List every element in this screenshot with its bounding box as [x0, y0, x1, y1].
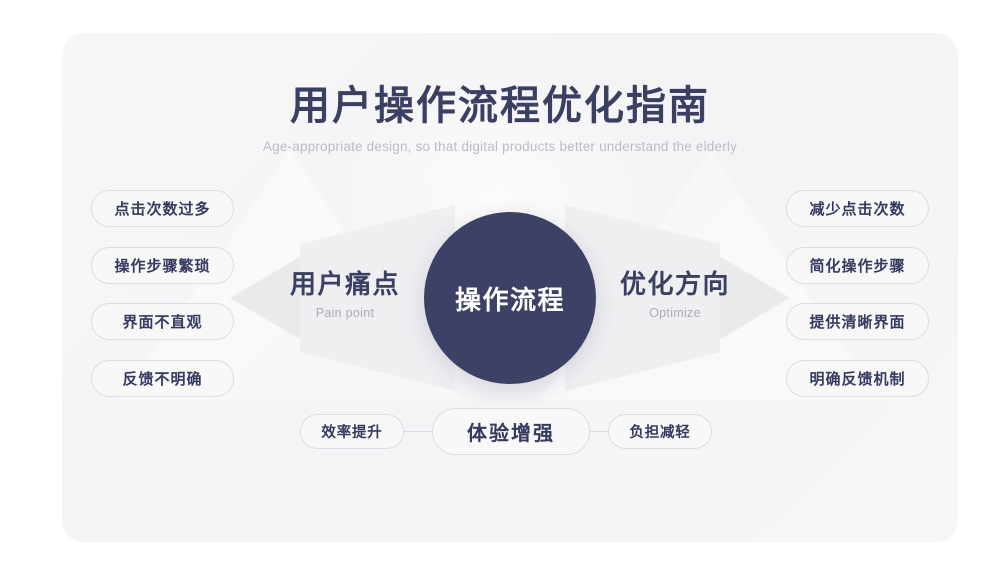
optimize-item-1[interactable]: 减少点击次数 [786, 190, 929, 227]
group-label-optimize: 优化方向 Optimize [585, 270, 765, 320]
connector-line-right [590, 431, 608, 432]
pain-point-item-3[interactable]: 界面不直观 [91, 303, 234, 340]
page-title: 用户操作流程优化指南 [0, 73, 1000, 131]
group-label-optimize-en: Optimize [585, 306, 765, 320]
pain-point-item-4[interactable]: 反馈不明确 [91, 360, 234, 397]
outcome-item-efficiency[interactable]: 效率提升 [300, 414, 404, 449]
infographic-canvas: 用户操作流程优化指南 Age-appropriate design, so th… [0, 0, 1000, 572]
outcome-item-burden[interactable]: 负担减轻 [608, 414, 712, 449]
group-label-pain-point: 用户痛点 Pain point [255, 270, 435, 320]
page-subtitle: Age-appropriate design, so that digital … [0, 139, 1000, 154]
group-label-optimize-zh: 优化方向 [585, 270, 765, 299]
center-node-process[interactable]: 操作流程 [424, 212, 596, 384]
optimize-item-2[interactable]: 简化操作步骤 [786, 247, 929, 284]
connector-line-left [404, 431, 432, 432]
optimize-item-3[interactable]: 提供清晰界面 [786, 303, 929, 340]
pain-point-item-1[interactable]: 点击次数过多 [91, 190, 234, 227]
pain-point-item-2[interactable]: 操作步骤繁琐 [91, 247, 234, 284]
center-node-label: 操作流程 [455, 280, 565, 317]
group-label-pain-point-en: Pain point [255, 306, 435, 320]
outcome-item-experience[interactable]: 体验增强 [432, 408, 590, 455]
optimize-item-4[interactable]: 明确反馈机制 [786, 360, 929, 397]
group-label-pain-point-zh: 用户痛点 [255, 270, 435, 299]
